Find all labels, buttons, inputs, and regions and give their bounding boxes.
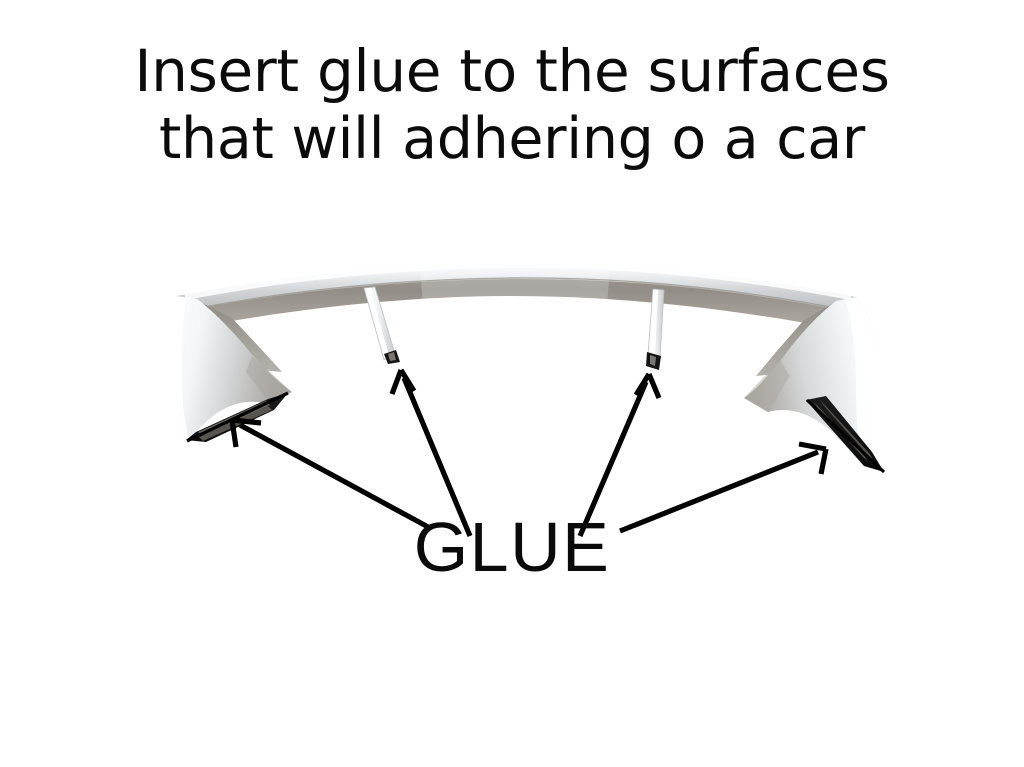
spoiler-illustration xyxy=(0,0,1024,767)
glue-callout-label: GLUE xyxy=(0,512,1024,582)
instruction-image: Insert glue to the surfaces that will ad… xyxy=(0,0,1024,767)
main-wing-blade xyxy=(176,261,856,330)
right-support-leg xyxy=(744,297,884,472)
wing-blade-sheen xyxy=(420,263,610,320)
